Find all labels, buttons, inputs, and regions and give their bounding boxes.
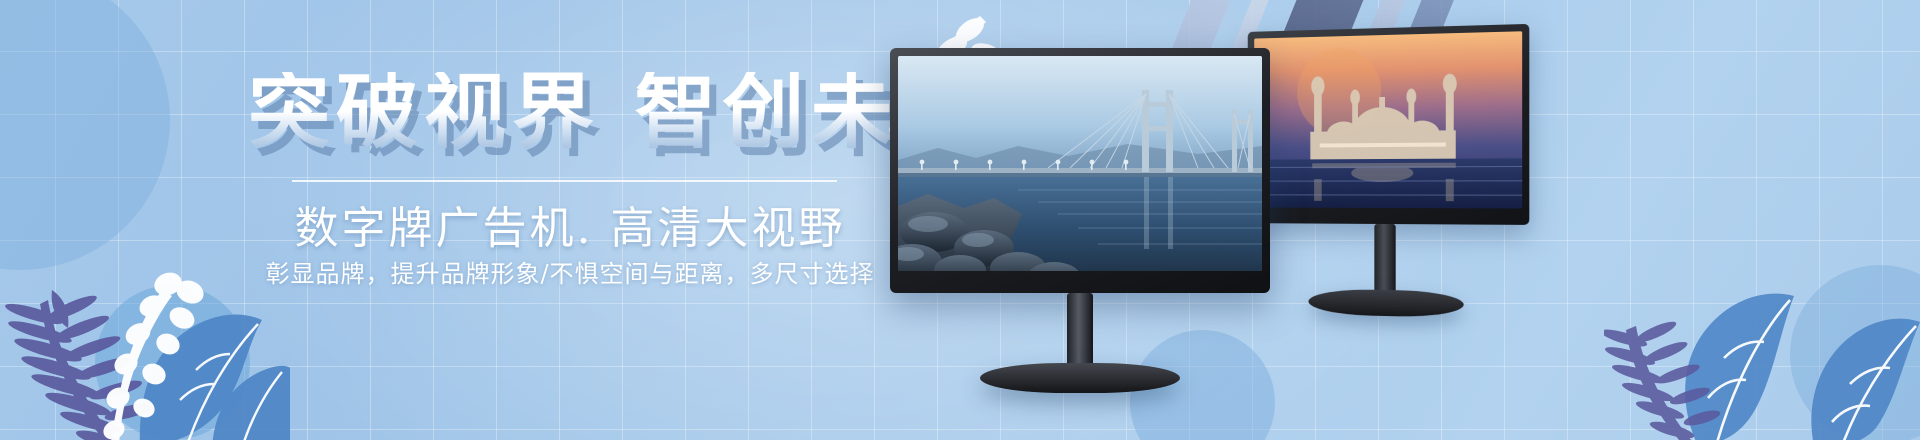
monitor-bezel xyxy=(1248,24,1530,225)
back-monitor xyxy=(1248,24,1530,352)
copy-block: 突破视界 智创未来 数字牌广告机. 高清大视野 彰显品牌，提升品牌形象/不惧空间… xyxy=(0,0,1010,440)
front-monitor: AOC xyxy=(890,48,1270,378)
monitor-stand-base xyxy=(1308,289,1463,318)
monitor-screen xyxy=(898,56,1262,271)
tagline: 彰显品牌，提升品牌形象/不惧空间与距离，多尺寸选择 xyxy=(240,254,900,289)
divider-rule xyxy=(292,180,837,182)
suspension-bridge-photo xyxy=(898,56,1262,271)
monitor-bezel: AOC xyxy=(890,48,1270,293)
monitor-stand-neck xyxy=(1067,293,1093,373)
product-images: AOC xyxy=(880,0,1920,440)
subtitle: 数字牌广告机. 高清大视野 xyxy=(290,192,850,256)
monitor-screen xyxy=(1254,31,1522,208)
promo-banner: 突破视界 智创未来 数字牌广告机. 高清大视野 彰显品牌，提升品牌形象/不惧空间… xyxy=(0,0,1920,440)
mosque-at-sunset-photo xyxy=(1254,31,1522,208)
monitor-stand-neck xyxy=(1374,224,1395,298)
page-title: 突破视界 智创未来 xyxy=(248,72,987,154)
monitor-stand-base xyxy=(980,363,1180,393)
